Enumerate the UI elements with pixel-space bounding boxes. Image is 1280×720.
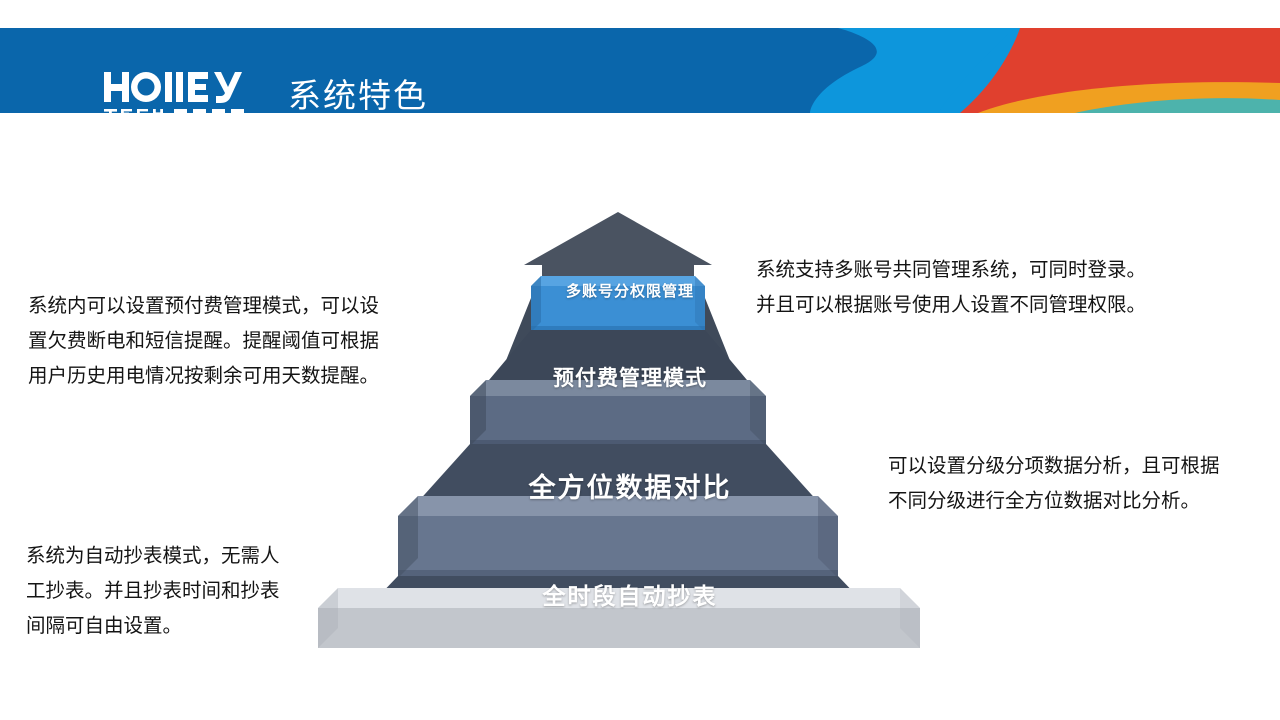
callout-prepaid-management: 系统内可以设置预付费管理模式，可以设 置欠费断电和短信提醒。提醒阈值可根据 用户… [28, 288, 448, 393]
header-swoosh-graphic [810, 28, 1280, 113]
slide-root: 系统特色 [0, 0, 1280, 720]
holley-wordmark-icon [104, 70, 264, 104]
pyramid-tier-3 [398, 496, 838, 578]
pyramid-tier-1 [531, 276, 705, 332]
callout-multi-account: 系统支持多账号共同管理系统，可同时登录。 并且可以根据账号使用人设置不同管理权限… [756, 252, 1196, 322]
pyramid-body-level3 [416, 444, 820, 504]
header-bar: 系统特色 [0, 28, 1280, 113]
holley-logo [104, 70, 264, 113]
holley-tagline-icon [104, 106, 264, 113]
callout-data-comparison: 可以设置分级分项数据分析，且可根据 不同分级进行全方位数据对比分析。 [888, 448, 1280, 518]
callout-auto-meter-reading: 系统为自动抄表模式，无需人 工抄表。并且抄表时间和抄表 间隔可自由设置。 [26, 538, 326, 643]
pyramid-tier-4 [318, 588, 920, 648]
pyramid-tier-2 [470, 380, 766, 446]
page-title: 系统特色 [288, 76, 428, 113]
pyramid-body-level2 [484, 330, 752, 386]
